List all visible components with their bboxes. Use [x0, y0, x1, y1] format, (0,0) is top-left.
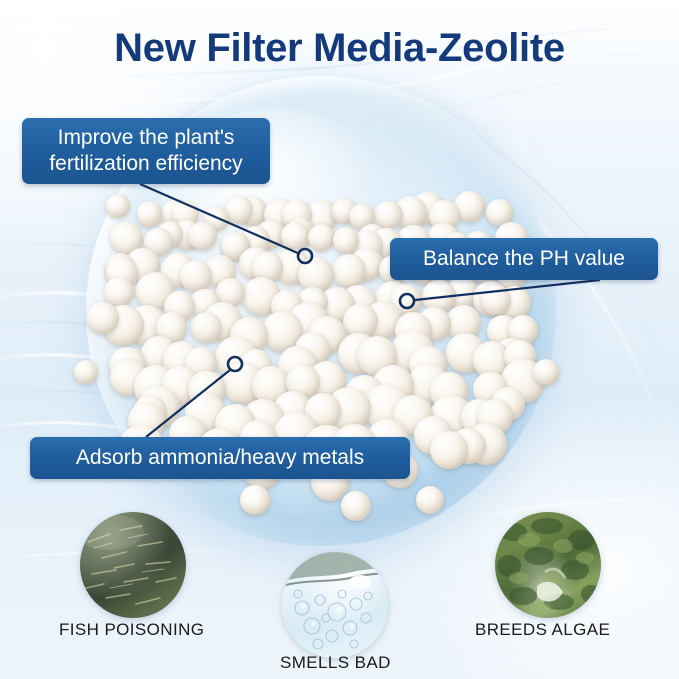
- photo-smells-bad: [282, 552, 388, 658]
- dead-fish-texture: [80, 512, 186, 618]
- callout-adsorb-label: Adsorb ammonia/heavy metals: [76, 445, 364, 471]
- caption-smells-bad: SMELLS BAD: [280, 653, 391, 673]
- caption-fish-poisoning: FISH POISONING: [59, 620, 204, 640]
- green-algae-texture: [495, 512, 601, 618]
- callout-fertilization-line1: Improve the plant's: [49, 125, 242, 151]
- callout-balance-ph[interactable]: Balance the PH value: [390, 238, 658, 280]
- callout-adsorb-ammonia[interactable]: Adsorb ammonia/heavy metals: [30, 437, 410, 479]
- photo-fish-poisoning: [80, 512, 186, 618]
- callout-ph-label: Balance the PH value: [423, 246, 625, 272]
- caption-breeds-algae: BREEDS ALGAE: [475, 620, 610, 640]
- photo-breeds-algae: [495, 512, 601, 618]
- foamy-water-texture: [282, 552, 388, 658]
- page-title: New Filter Media-Zeolite: [0, 26, 679, 71]
- callout-improve-fertilization[interactable]: Improve the plant's fertilization effici…: [22, 118, 270, 184]
- callout-fertilization-line2: fertilization efficiency: [49, 151, 242, 177]
- product-infographic: Improve the plant's fertilization effici…: [0, 0, 679, 679]
